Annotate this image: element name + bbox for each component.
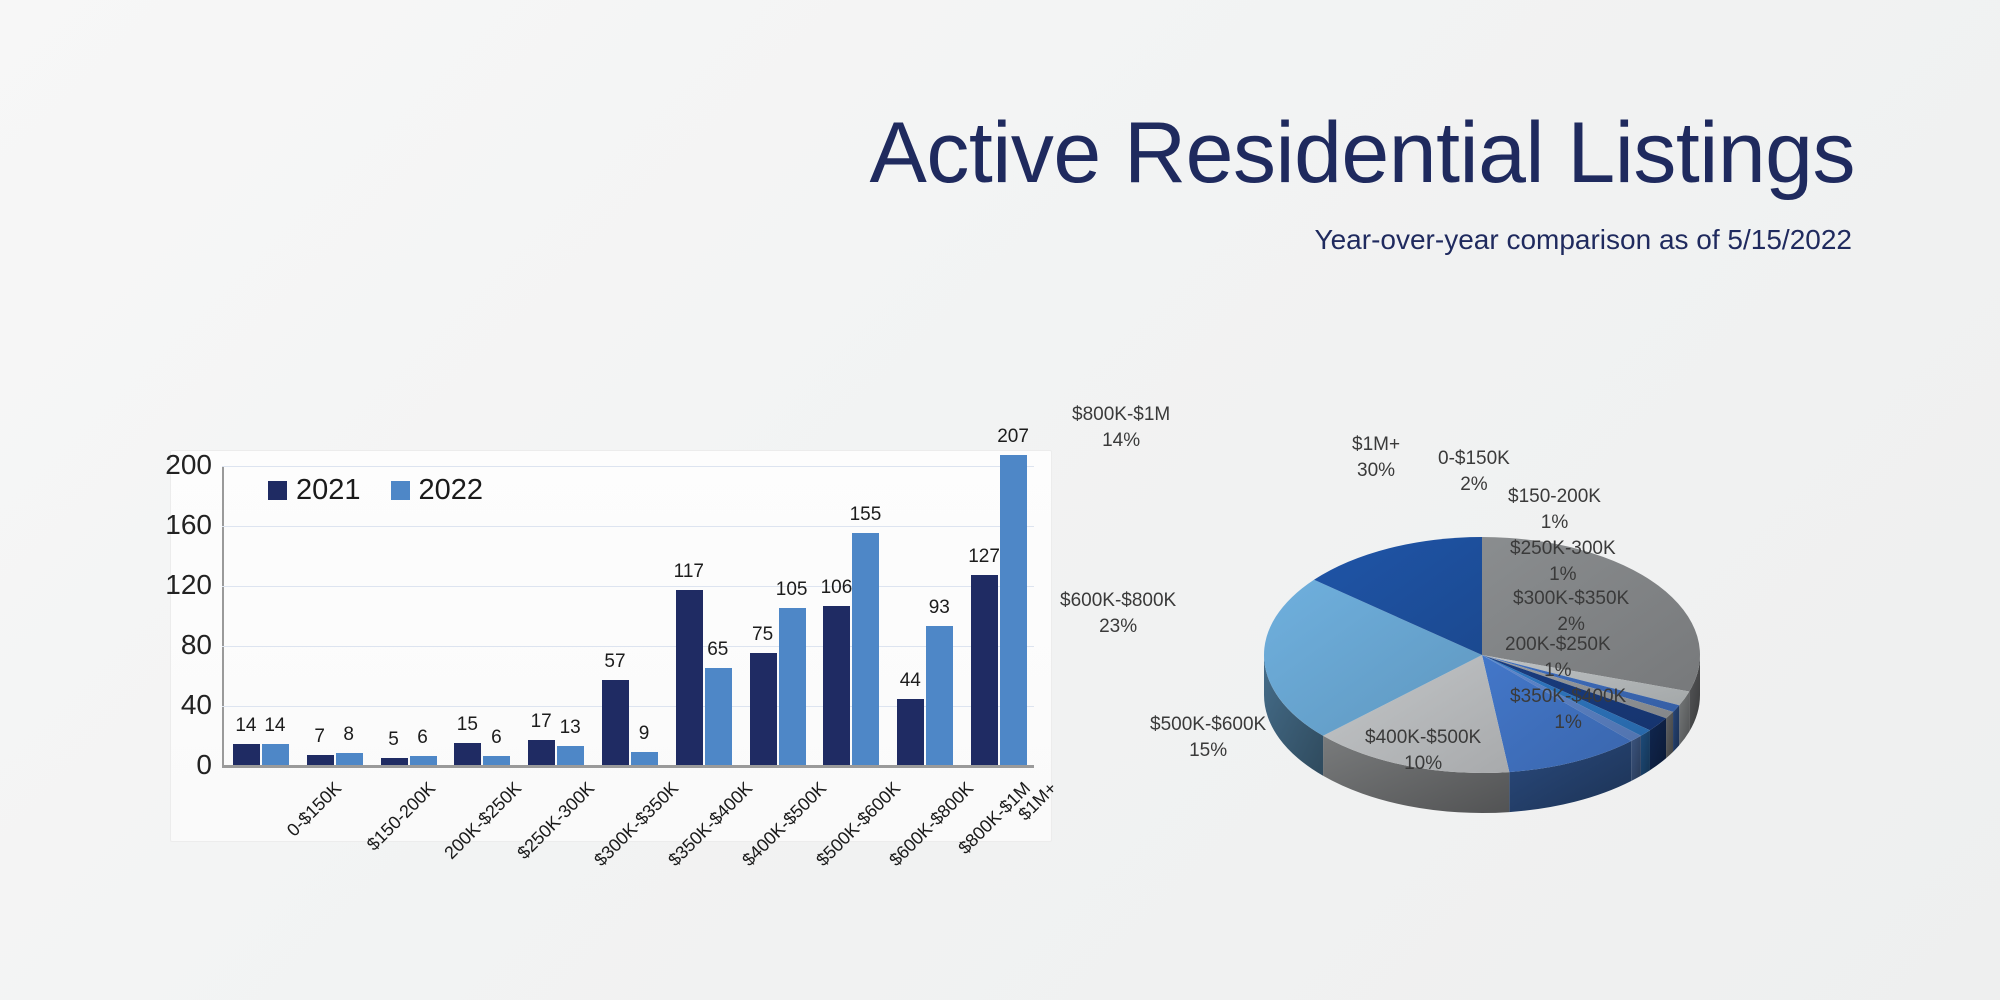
y-axis-tick-label: 200 bbox=[150, 449, 212, 481]
pie-callout-percent: 23% bbox=[1060, 614, 1176, 640]
pie-callout-label: $400K-$500K bbox=[1365, 725, 1481, 751]
bar-2021 bbox=[971, 575, 998, 766]
bar-2022 bbox=[1000, 455, 1027, 766]
legend-item-2022[interactable]: 2022 bbox=[391, 474, 484, 507]
pie-callout-label: $800K-$1M bbox=[1072, 402, 1170, 428]
bar-2021 bbox=[454, 743, 481, 766]
bar-group: 1713 bbox=[528, 465, 584, 765]
bar-2021 bbox=[381, 758, 408, 766]
bar-2022 bbox=[631, 752, 658, 766]
y-axis-tick-label: 120 bbox=[150, 569, 212, 601]
pie-callout-$500K-$600K: $500K-$600K15% bbox=[1150, 712, 1266, 763]
pie-callout-percent: 10% bbox=[1365, 751, 1481, 777]
bar-2021 bbox=[750, 653, 777, 766]
bar-chart: 04080120160200 1414785615617135791176575… bbox=[150, 438, 1070, 838]
bar-value-label: 75 bbox=[746, 624, 780, 646]
pie-slice-wall bbox=[1631, 736, 1641, 781]
pie-callout-percent: 1% bbox=[1508, 510, 1601, 536]
pie-callout-label: 200K-$250K bbox=[1505, 632, 1611, 658]
bar-group: 4493 bbox=[897, 465, 953, 765]
pie-chart-svg bbox=[1220, 500, 1780, 830]
bar-value-label: 106 bbox=[819, 577, 853, 599]
pie-slice-wall bbox=[1666, 712, 1673, 758]
legend-label: 2022 bbox=[419, 474, 484, 507]
pie-callout-label: $350K-$400K bbox=[1510, 684, 1626, 710]
pie-callout-label: $300K-$350K bbox=[1513, 586, 1629, 612]
pie-callout-percent: 1% bbox=[1505, 658, 1611, 684]
pie-slice-tops bbox=[1264, 537, 1700, 773]
bar-value-label: 127 bbox=[967, 546, 1001, 568]
bar-value-label: 6 bbox=[406, 727, 440, 749]
pie-callout-label: $1M+ bbox=[1352, 432, 1400, 458]
bar-2022 bbox=[557, 746, 584, 766]
bar-group: 78 bbox=[307, 465, 363, 765]
bar-value-label: 13 bbox=[553, 717, 587, 739]
pie-callout-$150-200K: $150-200K1% bbox=[1508, 484, 1601, 535]
pie-callout-0-$150K: 0-$150K2% bbox=[1438, 446, 1510, 497]
bar-value-label: 6 bbox=[479, 727, 513, 749]
bar-2021 bbox=[602, 680, 629, 766]
bar-value-label: 93 bbox=[922, 597, 956, 619]
bar-2022 bbox=[262, 744, 289, 765]
pie-callout-200K-$250K: 200K-$250K1% bbox=[1505, 632, 1611, 683]
pie-callout-label: 0-$150K bbox=[1438, 446, 1510, 472]
pie-callout-percent: 1% bbox=[1510, 710, 1626, 736]
pie-callout-$400K-$500K: $400K-$500K10% bbox=[1365, 725, 1481, 776]
legend-swatch-icon bbox=[391, 481, 410, 500]
bar-value-label: 207 bbox=[996, 426, 1030, 448]
bar-2021 bbox=[823, 606, 850, 765]
pie-slice-wall bbox=[1673, 705, 1679, 752]
page-title: Active Residential Listings bbox=[0, 110, 1900, 196]
bar-value-label: 9 bbox=[627, 723, 661, 745]
bar-group: 106155 bbox=[823, 465, 879, 765]
bar-2022 bbox=[779, 608, 806, 766]
bar-group: 75105 bbox=[750, 465, 806, 765]
bar-value-label: 14 bbox=[258, 715, 292, 737]
y-axis-tick-label: 80 bbox=[150, 629, 212, 661]
page-subtitle: Year-over-year comparison as of 5/15/202… bbox=[0, 224, 1900, 256]
pie-callout-$600K-$800K: $600K-$800K23% bbox=[1060, 588, 1176, 639]
bar-2022 bbox=[926, 626, 953, 766]
legend-swatch-icon bbox=[268, 481, 287, 500]
bar-value-label: 155 bbox=[848, 504, 882, 526]
pie-callout-label: $250K-300K bbox=[1510, 536, 1616, 562]
y-axis-tick-label: 0 bbox=[150, 749, 212, 781]
bar-group: 11765 bbox=[676, 465, 732, 765]
pie-callout-percent: 1% bbox=[1510, 562, 1616, 588]
bar-group: 56 bbox=[381, 465, 437, 765]
pie-callout-$250K-300K: $250K-300K1% bbox=[1510, 536, 1616, 587]
pie-callout-percent: 2% bbox=[1438, 472, 1510, 498]
bar-2021 bbox=[233, 744, 260, 765]
pie-callout-label: $600K-$800K bbox=[1060, 588, 1176, 614]
y-axis-tick-labels: 04080120160200 bbox=[150, 466, 212, 766]
pie-chart: $1M+30%0-$150K2%$150-200K1%$250K-300K1%$… bbox=[1080, 440, 1940, 860]
pie-callout-label: $500K-$600K bbox=[1150, 712, 1266, 738]
bar-2021 bbox=[897, 699, 924, 765]
bar-chart-legend: 20212022 bbox=[268, 474, 483, 507]
y-axis-tick-label: 160 bbox=[150, 509, 212, 541]
bar-value-label: 57 bbox=[598, 651, 632, 673]
bar-2021 bbox=[676, 590, 703, 766]
bar-group: 127207 bbox=[971, 465, 1027, 765]
bar-2022 bbox=[852, 533, 879, 766]
pie-callout-percent: 15% bbox=[1150, 738, 1266, 764]
bar-2022 bbox=[336, 753, 363, 765]
bar-2022 bbox=[483, 756, 510, 765]
bar-2021 bbox=[528, 740, 555, 766]
bar-value-label: 8 bbox=[332, 724, 366, 746]
bar-2022 bbox=[705, 668, 732, 766]
bar-value-label: 105 bbox=[775, 579, 809, 601]
bar-2022 bbox=[410, 756, 437, 765]
bar-group: 156 bbox=[454, 465, 510, 765]
bar-value-label: 65 bbox=[701, 639, 735, 661]
bar-chart-plot-area: 04080120160200 1414785615617135791176575… bbox=[222, 466, 1034, 766]
pie-callout-$350K-$400K: $350K-$400K1% bbox=[1510, 684, 1626, 735]
y-axis-tick-label: 40 bbox=[150, 689, 212, 721]
y-axis-line bbox=[222, 466, 224, 766]
pie-callout-$300K-$350K: $300K-$350K2% bbox=[1513, 586, 1629, 637]
bar-2021 bbox=[307, 755, 334, 766]
x-axis-line bbox=[222, 765, 1034, 768]
pie-callout-$800K-$1M: $800K-$1M14% bbox=[1072, 402, 1170, 453]
bar-group: 1414 bbox=[233, 465, 289, 765]
chart-header: Active Residential Listings Year-over-ye… bbox=[0, 0, 1900, 256]
bar-value-label: 44 bbox=[893, 670, 927, 692]
bar-value-label: 117 bbox=[672, 561, 706, 583]
legend-label: 2021 bbox=[296, 474, 361, 507]
bar-group: 579 bbox=[602, 465, 658, 765]
legend-item-2021[interactable]: 2021 bbox=[268, 474, 361, 507]
pie-callout-percent: 14% bbox=[1072, 428, 1170, 454]
pie-callout-percent: 30% bbox=[1352, 458, 1400, 484]
pie-slice-wall bbox=[1641, 730, 1650, 776]
pie-callout-$1M+: $1M+30% bbox=[1352, 432, 1400, 483]
pie-callout-label: $150-200K bbox=[1508, 484, 1601, 510]
